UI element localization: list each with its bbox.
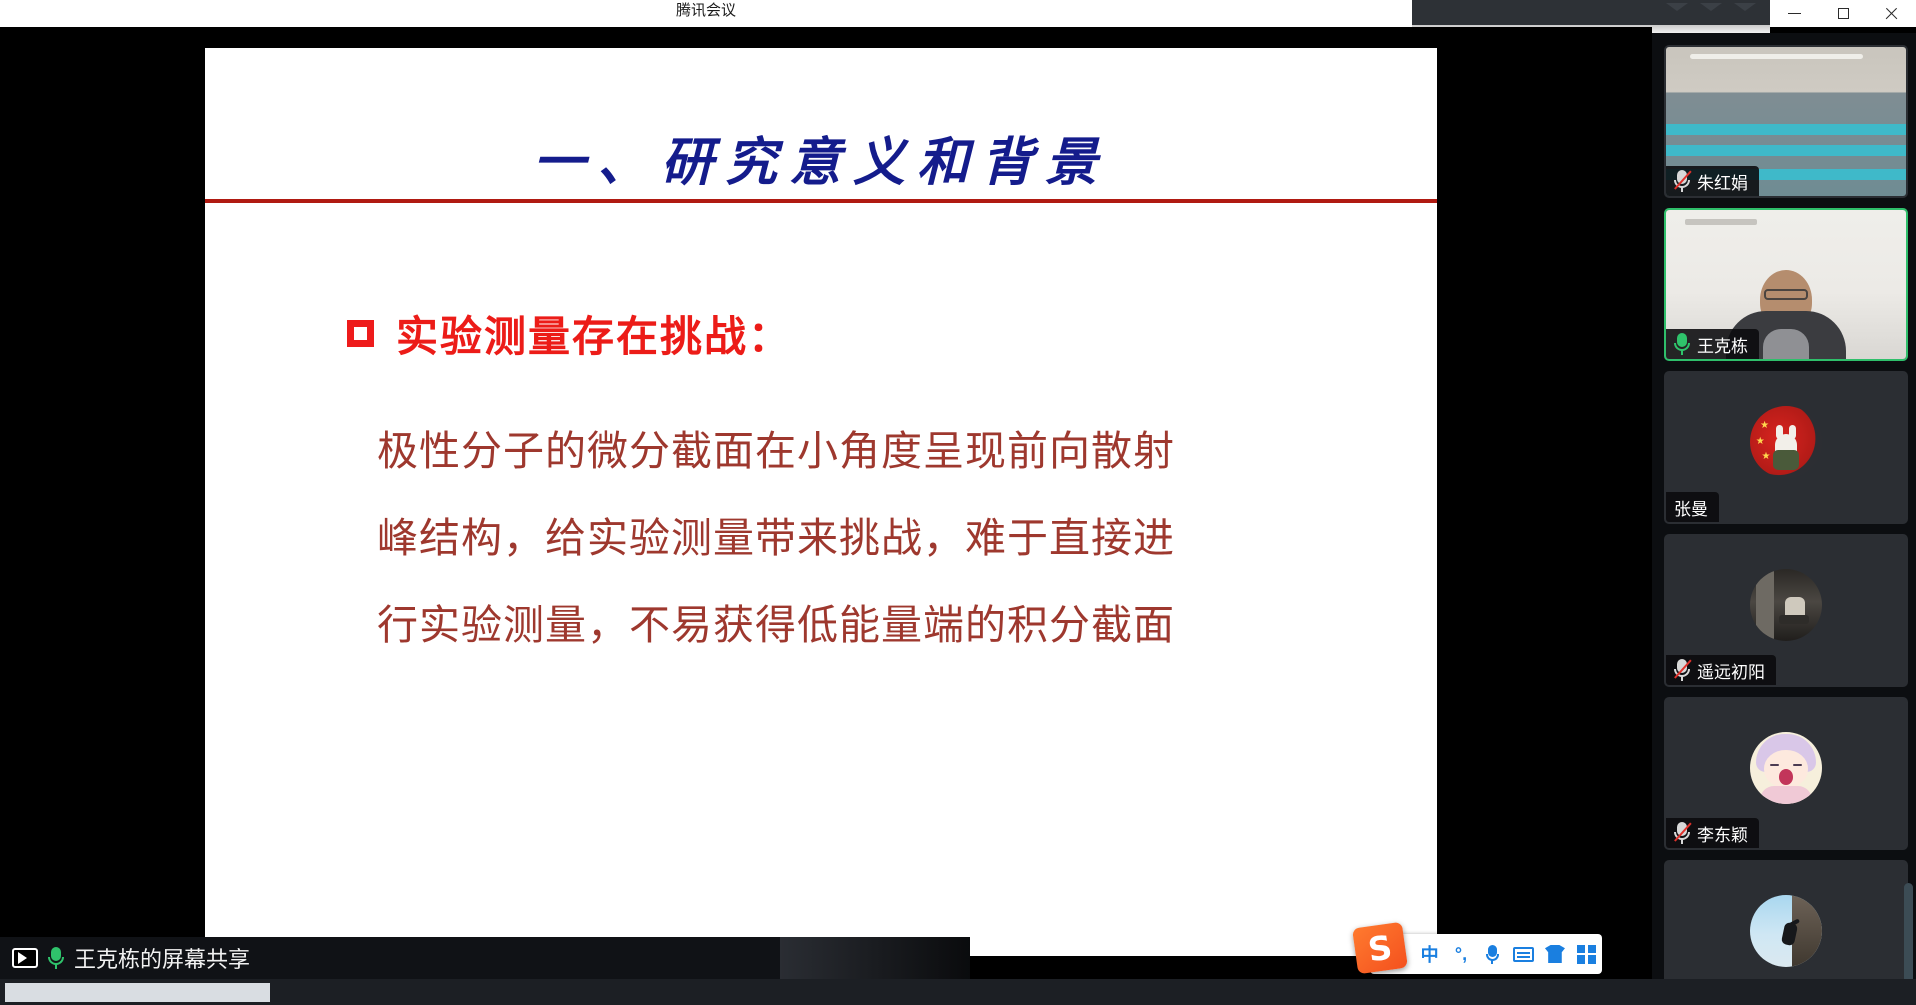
chevron-down-icon <box>1700 3 1722 11</box>
participant-avatar <box>1750 569 1822 641</box>
participant-name-chip: 遥远初阳 <box>1666 655 1776 685</box>
meeting-window: 腾讯会议 一、研究意义和背景 实验测量存在挑战： 极性分子的微分截面在小角度 <box>0 0 1916 1005</box>
square-bullet-icon <box>347 320 374 347</box>
microphone-icon <box>1486 945 1499 964</box>
window-title-bar: 腾讯会议 <box>0 0 1916 27</box>
participant-name-chip: 张曼 <box>1666 492 1719 522</box>
slide-title: 一、研究意义和背景 <box>205 120 1437 195</box>
slide-body-line: 行实验测量，不易获得低能量端的积分截面 <box>377 582 1377 669</box>
microphone-muted-icon <box>1674 169 1690 193</box>
participant-tile[interactable]: 朱红娟 <box>1664 45 1908 198</box>
microphone-on-icon <box>48 946 64 970</box>
ime-language-mode-button[interactable]: 中 <box>1414 934 1445 974</box>
minimize-button[interactable] <box>1770 0 1819 27</box>
shared-screen-viewport[interactable]: 一、研究意义和背景 实验测量存在挑战： 极性分子的微分截面在小角度呈现前向散射 … <box>0 27 1652 1005</box>
maximize-button[interactable] <box>1819 0 1868 27</box>
participant-name: 王克栋 <box>1697 332 1748 357</box>
maximize-icon <box>1838 8 1849 19</box>
title-underline <box>205 199 1437 203</box>
ime-skin-button[interactable] <box>1539 934 1570 974</box>
participant-avatar <box>1750 895 1822 967</box>
slide-body-line: 峰结构，给实验测量带来挑战，难于直接进 <box>377 495 1377 582</box>
slide-body-line: 极性分子的微分截面在小角度呈现前向散射 <box>377 408 1377 495</box>
presentation-slide: 一、研究意义和背景 实验测量存在挑战： 极性分子的微分截面在小角度呈现前向散射 … <box>205 48 1437 956</box>
window-controls <box>1770 0 1916 27</box>
participant-name: 张曼 <box>1674 495 1708 520</box>
microphone-muted-icon <box>1674 821 1690 845</box>
participant-avatar <box>1750 732 1822 804</box>
participant-filmstrip[interactable]: 朱红娟 王克栋 ★ ★ ★ <box>1652 33 1916 1005</box>
bullet-heading-text: 实验测量存在挑战： <box>396 303 792 364</box>
ime-voice-input-button[interactable] <box>1477 934 1508 974</box>
participant-tile[interactable]: ★ ★ ★ 张曼 <box>1664 371 1908 524</box>
participant-name-chip: 李东颖 <box>1666 818 1759 848</box>
participant-tile[interactable]: 李东颖 <box>1664 697 1908 850</box>
taskbar-item[interactable] <box>5 983 270 1002</box>
ime-toolbox-button[interactable] <box>1571 934 1602 974</box>
shirt-icon <box>1545 945 1565 963</box>
participant-tile-active-speaker[interactable]: 王克栋 <box>1664 208 1908 361</box>
bullet-heading-row: 实验测量存在挑战： <box>347 303 792 364</box>
participant-tile[interactable]: 遥远初阳 <box>1664 534 1908 687</box>
ime-punctuation-mode-button[interactable]: °, <box>1445 934 1476 974</box>
participant-name: 遥远初阳 <box>1697 658 1765 683</box>
participant-name: 朱红娟 <box>1697 169 1748 194</box>
ime-soft-keyboard-button[interactable] <box>1508 934 1539 974</box>
screen-share-label: 王克栋的屏幕共享 <box>74 942 250 974</box>
participant-avatar: ★ ★ ★ <box>1750 406 1822 478</box>
os-taskbar[interactable] <box>0 979 1916 1005</box>
sogou-logo-icon[interactable]: S <box>1352 922 1408 975</box>
app-grid-icon <box>1577 945 1596 964</box>
close-icon <box>1885 7 1898 20</box>
slide-body: 极性分子的微分截面在小角度呈现前向散射 峰结构，给实验测量带来挑战，难于直接进 … <box>377 408 1377 669</box>
window-title: 腾讯会议 <box>0 0 1412 27</box>
title-bar-dark-chip <box>1412 0 1770 25</box>
participant-name-chip: 朱红娟 <box>1666 166 1759 196</box>
minimize-icon <box>1788 13 1801 14</box>
keyboard-icon <box>1513 947 1534 962</box>
participant-name: 李东颖 <box>1697 821 1748 846</box>
chevron-down-icon <box>1734 3 1756 11</box>
microphone-on-icon <box>1674 332 1690 356</box>
chevron-group <box>1666 3 1756 11</box>
participant-name-chip: 王克栋 <box>1666 329 1759 359</box>
microphone-muted-icon <box>1674 658 1690 682</box>
screen-share-icon <box>12 948 38 968</box>
chevron-down-icon <box>1666 3 1688 11</box>
status-bar-shadow <box>780 937 970 979</box>
filmstrip-scrollbar-thumb[interactable] <box>1904 883 1913 983</box>
screen-share-status-bar: 王克栋的屏幕共享 <box>0 937 780 979</box>
close-button[interactable] <box>1867 0 1916 27</box>
